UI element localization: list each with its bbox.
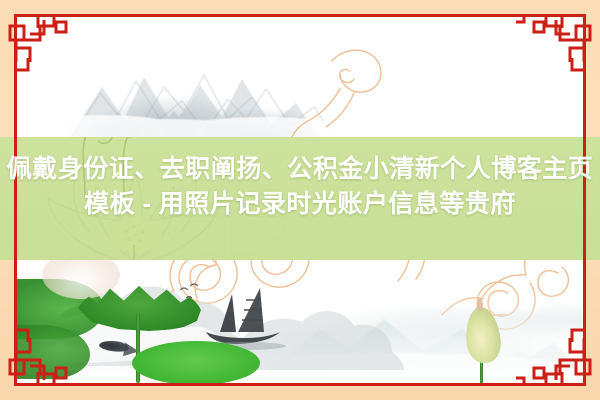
caption-line-2: 模板 - 用照片记录时光账户信息等贵府	[0, 187, 600, 222]
banner-image: 佩戴身份证、去职阐扬、公积金小清新个人博客主页 模板 - 用照片记录时光账户信息…	[0, 0, 600, 400]
caption-line-1: 佩戴身份证、去职阐扬、公积金小清新个人博客主页	[7, 155, 594, 183]
banner-caption: 佩戴身份证、去职阐扬、公积金小清新个人博客主页 模板 - 用照片记录时光账户信息…	[0, 152, 600, 222]
lotus-pond-scene	[14, 240, 586, 385]
flying-birds-icon	[180, 284, 198, 298]
lotus-pad-icon	[132, 341, 260, 385]
